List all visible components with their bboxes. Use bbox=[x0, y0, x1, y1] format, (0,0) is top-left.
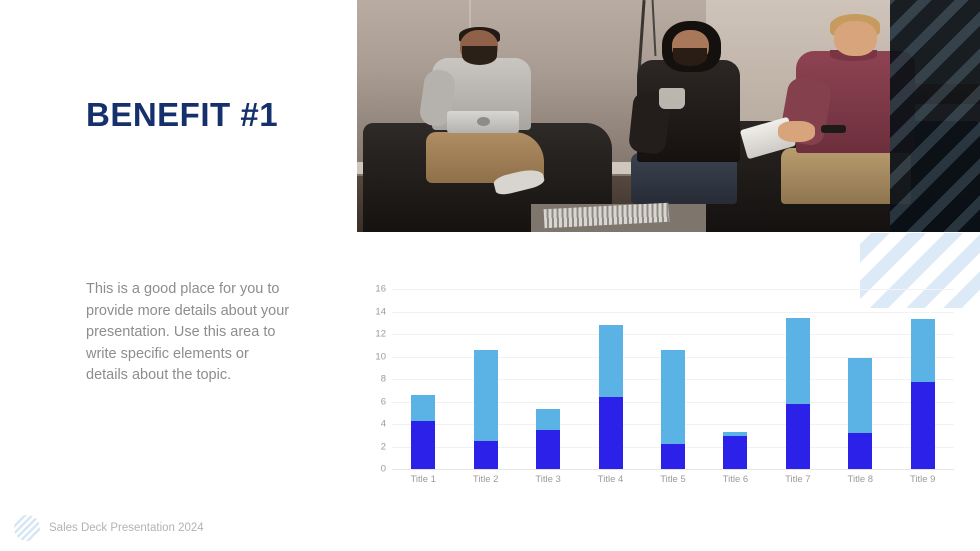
chart-bar-segment-lower[interactable] bbox=[411, 421, 435, 469]
chart-y-tick-label: 10 bbox=[360, 351, 386, 362]
chart-bar-segment-lower[interactable] bbox=[599, 397, 623, 469]
photo-wristwatch bbox=[821, 125, 846, 133]
chart-bar-segment-lower[interactable] bbox=[474, 441, 498, 469]
chart-x-tick-label: Title 5 bbox=[646, 474, 700, 485]
stacked-bar-chart: Title 1Title 2Title 3Title 4Title 5Title… bbox=[360, 280, 960, 505]
slide-canvas: BENEFIT #1 This is a good place for you … bbox=[0, 0, 980, 551]
chart-x-axis-labels: Title 1Title 2Title 3Title 4Title 5Title… bbox=[392, 474, 954, 485]
chart-x-tick-label: Title 7 bbox=[771, 474, 825, 485]
chart-bar[interactable] bbox=[536, 289, 560, 469]
striped-circle-logo-icon bbox=[14, 515, 40, 541]
chart-y-tick-label: 8 bbox=[360, 374, 386, 385]
chart-y-tick-label: 16 bbox=[360, 284, 386, 295]
chart-bar[interactable] bbox=[599, 289, 623, 469]
chart-gridline bbox=[392, 469, 954, 470]
photo-stripe-overlay bbox=[890, 0, 980, 232]
chart-bar-segment-upper[interactable] bbox=[411, 395, 435, 421]
chart-bar-segment-lower[interactable] bbox=[661, 444, 685, 469]
chart-y-tick-label: 4 bbox=[360, 419, 386, 430]
chart-bar[interactable] bbox=[411, 289, 435, 469]
chart-x-tick-label: Title 6 bbox=[708, 474, 762, 485]
photo-drink-glass bbox=[659, 88, 685, 109]
chart-y-tick-label: 12 bbox=[360, 329, 386, 340]
chart-bar-segment-lower[interactable] bbox=[848, 433, 872, 469]
hero-photo bbox=[357, 0, 980, 232]
photo-person1-beard bbox=[462, 46, 497, 65]
chart-bar-segment-upper[interactable] bbox=[911, 319, 935, 382]
chart-bar[interactable] bbox=[661, 289, 685, 469]
chart-y-tick-label: 0 bbox=[360, 464, 386, 475]
chart-bar[interactable] bbox=[474, 289, 498, 469]
chart-x-tick-label: Title 4 bbox=[584, 474, 638, 485]
footer-label: Sales Deck Presentation 2024 bbox=[49, 522, 204, 534]
chart-bar-segment-lower[interactable] bbox=[911, 382, 935, 469]
chart-x-tick-label: Title 3 bbox=[521, 474, 575, 485]
chart-bar[interactable] bbox=[786, 289, 810, 469]
chart-x-tick-label: Title 1 bbox=[396, 474, 450, 485]
chart-bar-segment-lower[interactable] bbox=[723, 436, 747, 469]
chart-y-tick-label: 2 bbox=[360, 441, 386, 452]
chart-x-tick-label: Title 8 bbox=[833, 474, 887, 485]
chart-bar-segment-upper[interactable] bbox=[536, 409, 560, 429]
page-title: BENEFIT #1 bbox=[86, 96, 278, 134]
chart-x-tick-label: Title 9 bbox=[896, 474, 950, 485]
chart-bar[interactable] bbox=[911, 289, 935, 469]
chart-bar-segment-upper[interactable] bbox=[786, 318, 810, 404]
chart-y-tick-label: 14 bbox=[360, 306, 386, 317]
chart-bar[interactable] bbox=[723, 289, 747, 469]
footer: Sales Deck Presentation 2024 bbox=[14, 515, 204, 541]
chart-bar-segment-lower[interactable] bbox=[786, 404, 810, 469]
body-paragraph: This is a good place for you to provide … bbox=[86, 279, 291, 387]
chart-bar-segment-upper[interactable] bbox=[599, 325, 623, 397]
chart-bar-segment-upper[interactable] bbox=[661, 350, 685, 445]
chart-bar-segment-lower[interactable] bbox=[536, 430, 560, 469]
chart-bar[interactable] bbox=[848, 289, 872, 469]
photo-person3-head bbox=[834, 21, 878, 56]
photo-person3-hand bbox=[778, 121, 815, 142]
chart-bar-segment-upper[interactable] bbox=[474, 350, 498, 441]
chart-bar-segment-upper[interactable] bbox=[848, 358, 872, 433]
chart-bars bbox=[392, 289, 954, 469]
chart-x-tick-label: Title 2 bbox=[459, 474, 513, 485]
chart-y-tick-label: 6 bbox=[360, 396, 386, 407]
